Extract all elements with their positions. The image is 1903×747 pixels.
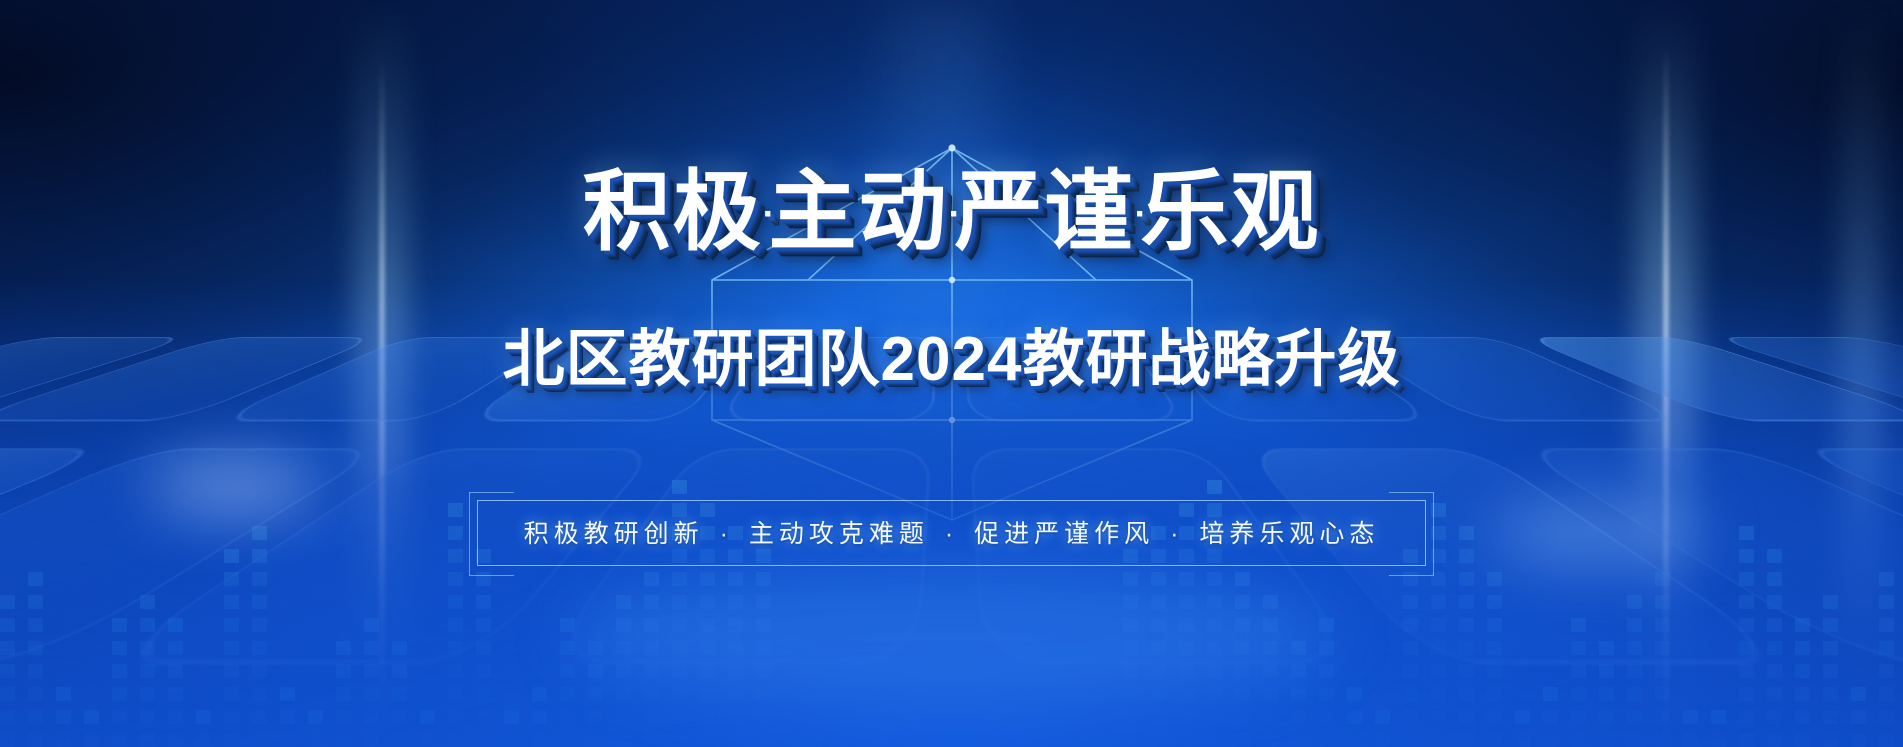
tagline-separator-dot: ·	[929, 520, 974, 548]
title-word: 积极	[583, 162, 763, 261]
title-word: 乐观	[1140, 162, 1320, 261]
tagline-frame: 积极教研创新 · 主动攻克难题 · 促进严谨作风 · 培养乐观心态	[477, 500, 1427, 566]
banner-tagline: 积极教研创新 · 主动攻克难题 · 促进严谨作风 · 培养乐观心态	[524, 514, 1380, 550]
tagline-item: 主动攻克难题	[749, 520, 929, 548]
tagline-item: 积极教研创新	[524, 520, 704, 548]
tagline-separator-dot: ·	[1154, 520, 1199, 548]
title-word: 主动	[769, 162, 949, 261]
tagline-item: 促进严谨作风	[974, 520, 1154, 548]
tagline-item: 培养乐观心态	[1199, 520, 1379, 548]
tagline-box: 积极教研创新 · 主动攻克难题 · 促进严谨作风 · 培养乐观心态	[477, 500, 1427, 566]
banner-main-title: 积极·主动·严谨·乐观	[583, 168, 1321, 256]
banner-content: 积极·主动·严谨·乐观 北区教研团队2024教研战略升级 积极教研创新 · 主动…	[0, 0, 1903, 747]
banner-subtitle: 北区教研团队2024教研战略升级	[503, 329, 1401, 391]
title-word: 严谨	[954, 162, 1134, 261]
tagline-separator-dot: ·	[704, 520, 749, 548]
hero-banner: 积极·主动·严谨·乐观 北区教研团队2024教研战略升级 积极教研创新 · 主动…	[0, 0, 1903, 747]
